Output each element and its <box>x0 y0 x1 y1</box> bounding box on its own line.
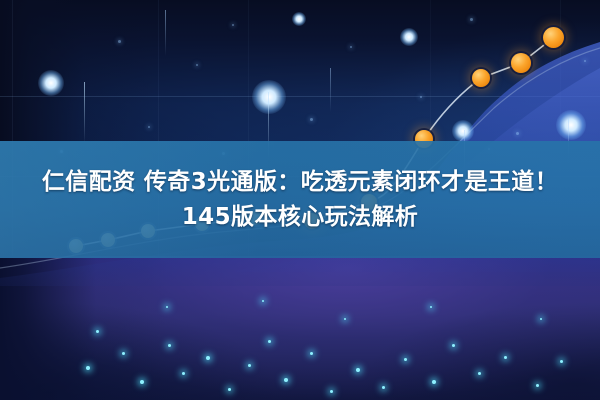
title-block: 仁信配资 传奇3光通版：吃透元素闭环才是王道！ 145版本核心玩法解析 <box>0 141 600 258</box>
glow-particle <box>86 366 90 370</box>
glow-particle <box>584 60 586 62</box>
glow-particle <box>196 64 198 66</box>
glow-particle <box>432 380 436 384</box>
glow-particle <box>478 372 481 375</box>
glow-particle <box>470 18 473 21</box>
glow-particle <box>504 356 507 359</box>
chart-marker <box>543 27 564 48</box>
glow-particle <box>268 340 271 343</box>
glow-particle <box>310 118 313 121</box>
glow-particle <box>148 126 150 128</box>
glow-particle <box>516 132 519 135</box>
glow-particle <box>262 300 264 302</box>
glow-particle <box>248 364 251 367</box>
glow-particle <box>536 384 539 387</box>
banner-image: 仁信配资 传奇3光通版：吃透元素闭环才是王道！ 145版本核心玩法解析 <box>0 0 600 400</box>
light-stem <box>330 68 331 112</box>
glow-particle <box>430 306 432 308</box>
chart-marker <box>511 53 531 73</box>
glow-particle <box>556 110 586 140</box>
light-stem <box>84 82 85 144</box>
glow-particle <box>96 330 99 333</box>
title-line-2: 145版本核心玩法解析 <box>182 203 418 232</box>
glow-particle <box>166 306 168 308</box>
glow-particle <box>232 24 234 26</box>
light-stem <box>165 10 166 56</box>
glow-particle <box>452 344 455 347</box>
gridline-horizontal <box>0 96 600 97</box>
glow-particle <box>382 386 385 389</box>
glow-particle <box>400 28 418 46</box>
glow-particle <box>182 372 185 375</box>
glow-particle <box>540 318 542 320</box>
lower-panel-left-vignette <box>0 256 600 400</box>
glow-particle <box>118 40 121 43</box>
glow-particle <box>356 368 360 372</box>
glow-particle <box>252 80 286 114</box>
glow-particle <box>292 12 306 26</box>
glow-particle <box>168 344 171 347</box>
glow-particle <box>140 380 144 384</box>
glow-particle <box>350 46 352 48</box>
glow-particle <box>206 356 210 360</box>
glow-particle <box>404 358 407 361</box>
chart-marker <box>472 69 490 87</box>
glow-particle <box>560 360 563 363</box>
glow-particle <box>38 70 64 96</box>
glow-particle <box>344 318 346 320</box>
glow-particle <box>122 352 125 355</box>
glow-particle <box>330 390 333 393</box>
glow-particle <box>310 352 313 355</box>
glow-particle <box>228 388 231 391</box>
glow-particle <box>420 96 422 98</box>
glow-particle <box>284 378 288 382</box>
title-line-1: 仁信配资 传奇3光通版：吃透元素闭环才是王道！ <box>42 168 558 197</box>
glow-particle <box>452 120 474 142</box>
